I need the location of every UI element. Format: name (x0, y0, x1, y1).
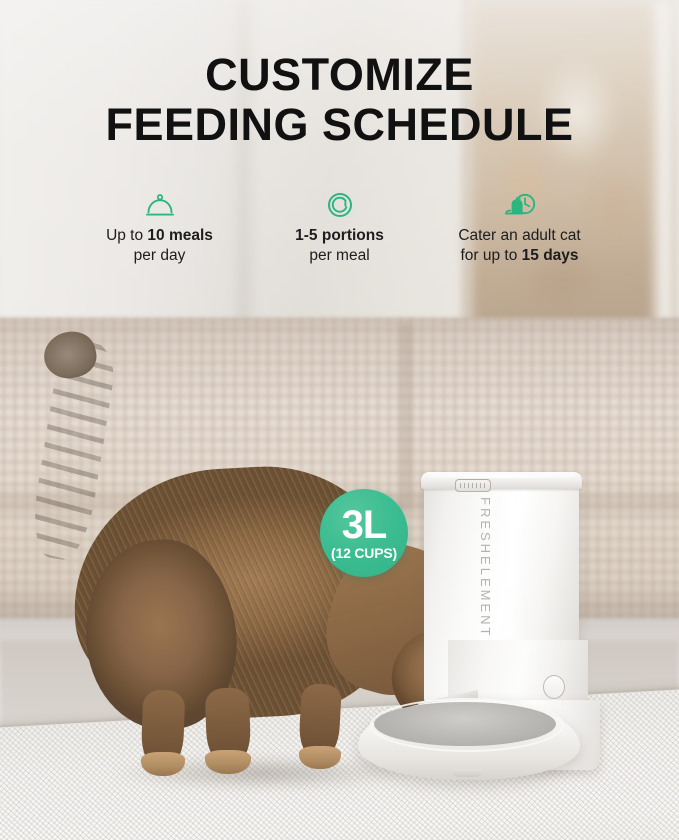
feature-text-prefix: Up to (106, 227, 147, 244)
feature-meals-per-day: Up to 10 meals per day (60, 190, 260, 266)
lid-latch-icon[interactable] (455, 479, 491, 492)
food-dome-icon (60, 190, 260, 220)
bowl-notch (452, 769, 482, 777)
headline-line-1: CUSTOMIZE (0, 50, 679, 100)
lid-highlight (428, 474, 574, 478)
feature-days-coverage: Cater an adult cat for up to 15 days (420, 190, 620, 266)
feature-caption: 1-5 portions per meal (260, 226, 420, 266)
brand-label: FRESHELEMENT (478, 497, 493, 638)
capacity-value: 3L (342, 506, 387, 544)
feature-text-bold: 1-5 portions (295, 227, 384, 244)
feature-text-line2: per meal (309, 247, 369, 264)
cat-clock-icon (420, 190, 620, 220)
portion-dial-icon (260, 190, 420, 220)
feature-text-bold: 15 days (522, 247, 579, 264)
feature-text-line2: per day (134, 247, 186, 264)
feeder-bowl-rim (370, 698, 564, 752)
feature-text-bold: 10 meals (147, 227, 213, 244)
power-button[interactable] (543, 675, 565, 699)
feature-list: Up to 10 meals per day 1-5 portions per … (0, 190, 679, 266)
feature-text-line1: Cater an adult cat (458, 227, 580, 244)
page-title: CUSTOMIZE FEEDING SCHEDULE (0, 50, 679, 150)
product-marketing-image: FRESHELEMENT 3L (12 CUPS) CUSTOMIZE FEED… (0, 0, 679, 840)
feature-portions-per-meal: 1-5 portions per meal (260, 190, 420, 266)
feature-text-prefix: for up to (460, 247, 521, 264)
headline-line-2: FEEDING SCHEDULE (0, 100, 679, 150)
capacity-badge: 3L (12 CUPS) (320, 489, 408, 577)
feature-caption: Up to 10 meals per day (60, 226, 260, 266)
feature-caption: Cater an adult cat for up to 15 days (420, 226, 620, 266)
capacity-cups: (12 CUPS) (331, 545, 397, 561)
